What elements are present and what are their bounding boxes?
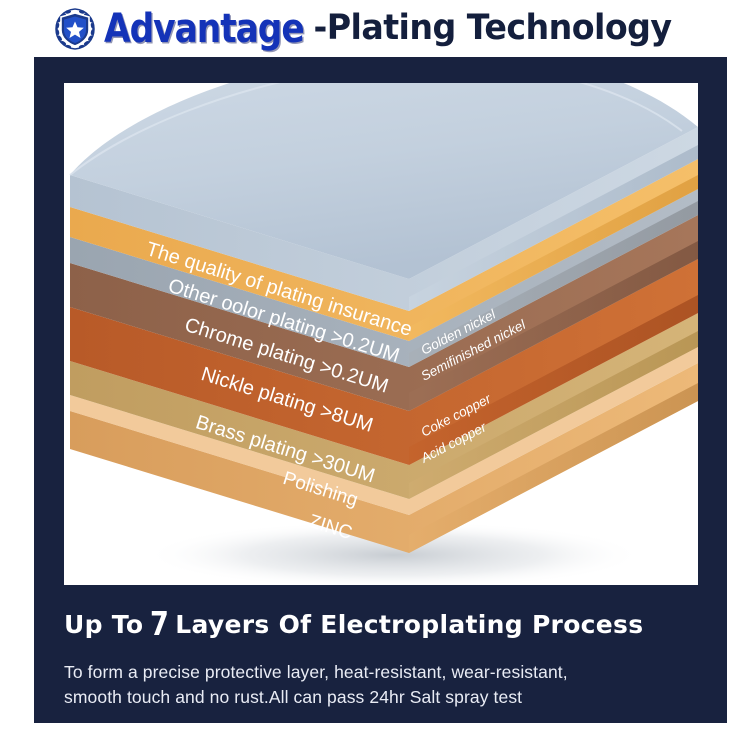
brand-name-advantage: Advantage bbox=[104, 9, 304, 49]
headline-prefix: Up To bbox=[64, 610, 143, 639]
headline: Up To 7 Layers Of Electroplating Process bbox=[64, 602, 704, 641]
page-header: Advantage -Plating Technology bbox=[0, 0, 750, 57]
headline-number: 7 bbox=[150, 604, 168, 643]
plating-layers-diagram: The quality of plating insurance Other o… bbox=[64, 83, 698, 585]
body-text: To form a precise protective layer, heat… bbox=[64, 660, 704, 711]
shield-laurel-emblem-icon bbox=[52, 6, 98, 52]
body-line-2: smooth touch and no rust.All can pass 24… bbox=[64, 685, 704, 710]
brand-lockup: Advantage -Plating Technology bbox=[52, 6, 719, 52]
content-card: The quality of plating insurance Other o… bbox=[34, 57, 727, 723]
diagram-panel: The quality of plating insurance Other o… bbox=[64, 83, 698, 585]
caption-block: Up To 7 Layers Of Electroplating Process… bbox=[64, 602, 704, 711]
headline-suffix: Layers Of Electroplating Process bbox=[175, 610, 643, 639]
brand-name-suffix: -Plating Technology bbox=[313, 11, 671, 46]
body-line-1: To form a precise protective layer, heat… bbox=[64, 660, 704, 685]
